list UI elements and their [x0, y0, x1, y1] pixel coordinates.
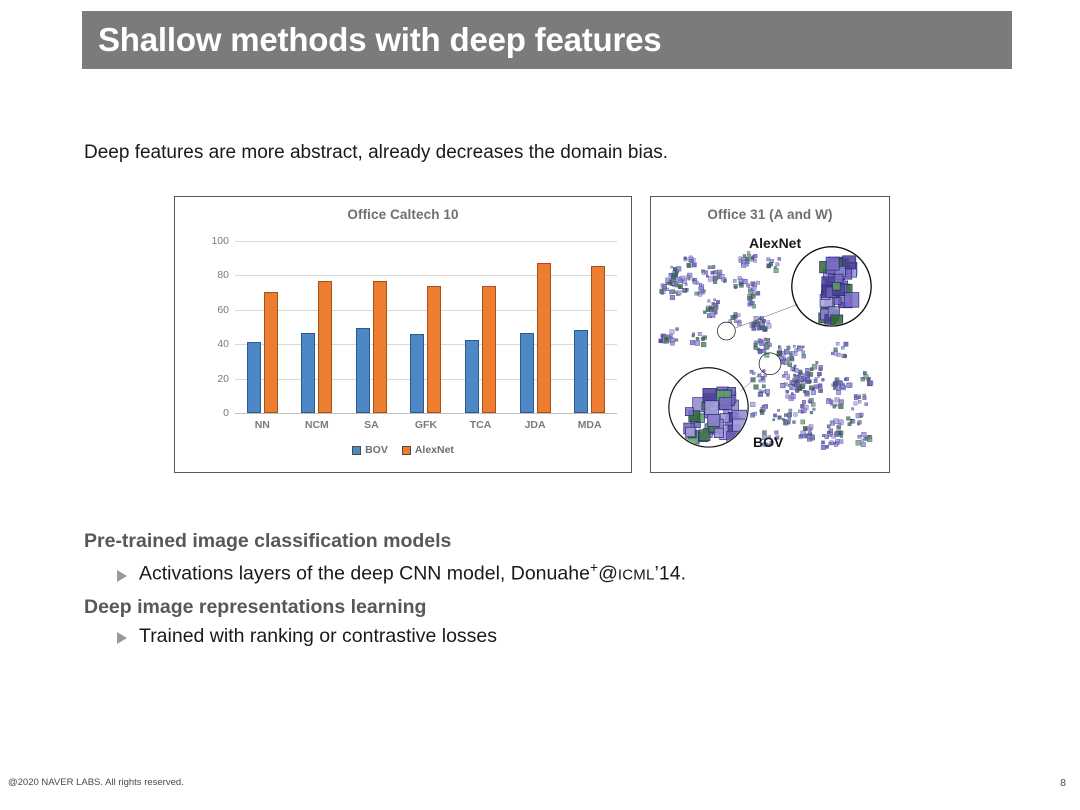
bullet-prefix: Activations layers of the deep CNN model…	[139, 563, 590, 585]
tsne-point	[734, 284, 738, 288]
tsne-inset-thumb	[705, 401, 719, 415]
tsne-point	[817, 372, 821, 376]
tsne-point	[741, 263, 746, 268]
tsne-point	[773, 414, 776, 417]
tsne-point	[713, 280, 717, 284]
chart-bar-alexnet-sa	[373, 281, 387, 413]
tsne-point	[868, 381, 873, 386]
tsne-point	[822, 434, 825, 437]
tsne-point	[787, 346, 790, 349]
tsne-point	[762, 379, 765, 382]
tsne-point	[661, 292, 663, 294]
tsne-inset-thumbnails	[819, 256, 859, 327]
tsne-panel: Office 31 (A and W) AlexNet BOV	[650, 196, 890, 473]
tsne-point	[756, 291, 760, 295]
tsne-point	[807, 435, 811, 439]
chart-bar-bov-sa	[356, 328, 370, 413]
tsne-point	[802, 351, 805, 354]
tsne-point	[839, 440, 843, 444]
tsne-point	[809, 425, 813, 429]
tsne-point	[811, 390, 816, 395]
tsne-point	[777, 351, 782, 356]
tsne-point	[805, 369, 808, 372]
tsne-point	[692, 263, 696, 267]
tsne-point	[754, 385, 759, 390]
tsne-point	[677, 277, 680, 280]
tsne-point	[692, 335, 694, 337]
tsne-point	[798, 347, 802, 351]
tsne-point	[858, 400, 861, 403]
tsne-point	[790, 388, 792, 390]
tsne-point	[844, 355, 847, 358]
tsne-inset-thumb	[714, 428, 723, 437]
tsne-point	[733, 279, 736, 282]
chart-bar-alexnet-jda	[537, 263, 551, 414]
tsne-point	[818, 389, 822, 393]
tsne-point	[685, 283, 687, 285]
tsne-point	[754, 259, 757, 262]
tsne-point	[786, 395, 789, 398]
tsne-point	[795, 349, 798, 352]
bullet-trained-losses-text: Trained with ranking or contrastive loss…	[139, 625, 497, 648]
chart-gridline	[235, 413, 617, 414]
tsne-point	[861, 442, 866, 447]
tsne-inset-thumb	[708, 414, 720, 426]
tsne-point	[836, 378, 839, 381]
tsne-point	[793, 345, 795, 347]
tsne-point	[787, 421, 790, 424]
tsne-point	[737, 321, 741, 325]
tsne-point	[834, 404, 837, 407]
page-title: Shallow methods with deep features	[82, 21, 661, 59]
tsne-point	[836, 390, 840, 394]
tsne-point	[659, 339, 663, 343]
tsne-point	[837, 353, 841, 357]
tsne-point	[752, 326, 756, 330]
tsne-point	[829, 442, 832, 445]
section-heading-pretrained: Pre-trained image classification models	[84, 530, 844, 553]
tsne-point	[844, 342, 848, 346]
tsne-point	[833, 387, 836, 390]
tsne-point	[708, 266, 711, 269]
tsne-point	[742, 260, 745, 263]
tsne-point	[759, 380, 762, 383]
tsne-point	[784, 421, 787, 424]
tsne-inset-thumbnails	[684, 387, 747, 445]
tsne-point	[671, 266, 673, 268]
chart-bar-group	[301, 241, 332, 413]
tsne-point	[767, 342, 770, 345]
tsne-inset-thumb	[703, 388, 717, 402]
footer-page-number: 8	[1060, 777, 1066, 789]
tsne-point	[686, 276, 689, 279]
tsne-point	[812, 388, 814, 390]
tsne-point	[858, 435, 861, 438]
tsne-inset-thumb	[686, 427, 695, 436]
tsne-point	[867, 437, 872, 442]
tsne-point	[703, 290, 705, 292]
chart-bar-group	[520, 241, 551, 413]
tsne-point	[846, 384, 850, 388]
tsne-point	[839, 400, 844, 405]
tsne-point	[754, 412, 757, 415]
chart-bar-bov-gfk	[410, 334, 424, 413]
tsne-point	[846, 417, 850, 421]
chart-bar-group	[574, 241, 605, 413]
tsne-point	[789, 409, 792, 412]
tsne-source-circle-alexnet	[717, 322, 735, 340]
tsne-point	[784, 414, 787, 417]
tsne-point	[854, 394, 857, 397]
tsne-point	[836, 342, 839, 345]
tsne-point	[841, 346, 844, 349]
tsne-point	[794, 352, 797, 355]
tsne-point	[687, 263, 690, 266]
tsne-point	[690, 340, 695, 345]
tsne-point	[826, 399, 831, 404]
tsne-point	[763, 390, 765, 392]
bullet-suffix: ’14.	[655, 563, 686, 585]
tsne-point	[782, 418, 784, 420]
tsne-point	[778, 416, 780, 418]
tsne-point	[822, 378, 825, 381]
tsne-point	[747, 296, 751, 300]
footer-copyright: @2020 NAVER LABS. All rights reserved.	[8, 777, 184, 788]
tsne-point	[838, 424, 841, 427]
body-content: Pre-trained image classification models …	[84, 530, 844, 658]
tsne-point	[795, 369, 799, 373]
tsne-point	[854, 402, 857, 405]
tsne-point	[747, 251, 750, 254]
tsne-point	[754, 346, 757, 349]
tsne-inset-thumb	[834, 274, 843, 283]
tsne-point	[675, 339, 678, 342]
bullet-trained-losses: Trained with ranking or contrastive loss…	[84, 625, 844, 648]
tsne-point	[739, 260, 742, 263]
tsne-point	[840, 384, 845, 389]
tsne-point	[709, 307, 713, 311]
tsne-point	[662, 284, 667, 289]
tsne-point	[670, 334, 673, 337]
tsne-point	[784, 349, 789, 354]
tsne-point	[751, 257, 753, 259]
tsne-point	[781, 384, 785, 388]
tsne-point	[701, 342, 706, 347]
chart-bar-bov-mda	[574, 330, 588, 413]
chart-y-tick-label: 0	[223, 407, 229, 419]
tsne-point	[828, 431, 830, 433]
tsne-point	[767, 258, 770, 261]
tsne-point	[676, 266, 681, 271]
legend-item-alexnet: AlexNet	[402, 444, 454, 456]
tsne-point	[801, 383, 805, 387]
tsne-point	[677, 291, 681, 295]
tsne-point	[734, 312, 737, 315]
tsne-point	[746, 284, 749, 287]
tsne-point	[803, 390, 806, 393]
legend-swatch-alexnet	[402, 446, 411, 455]
tsne-point	[695, 341, 700, 346]
chart-bars	[235, 241, 617, 413]
tsne-point	[760, 411, 764, 415]
tsne-point	[747, 254, 751, 258]
tsne-point	[708, 277, 713, 282]
tsne-point	[682, 288, 685, 291]
tsne-inset-thumb	[844, 293, 859, 308]
tsne-point	[816, 361, 818, 363]
tsne-inset-thumb	[685, 408, 693, 416]
tsne-point	[703, 311, 706, 314]
tsne-point	[810, 368, 813, 371]
tsne-point	[821, 445, 826, 450]
tsne-point	[713, 303, 717, 307]
chart-x-label-gfk: GFK	[403, 419, 449, 431]
chart-legend: BOV AlexNet	[175, 444, 631, 456]
tsne-point	[664, 339, 669, 344]
tsne-point	[808, 400, 811, 403]
tsne-point	[851, 408, 853, 410]
tsne-point	[678, 286, 681, 289]
chart-y-tick-label: 60	[217, 304, 229, 316]
tsne-point	[862, 432, 867, 437]
tsne-point	[759, 392, 762, 395]
tsne-point	[833, 382, 838, 387]
chart-bar-bov-ncm	[301, 333, 315, 413]
tsne-point	[865, 438, 868, 441]
tsne-inset-thumb	[720, 397, 732, 409]
tsne-point	[670, 341, 674, 345]
tsne-point	[852, 420, 855, 423]
tsne-point	[713, 276, 718, 281]
tsne-point	[769, 262, 773, 266]
tsne-point	[818, 384, 822, 388]
tsne-point	[717, 273, 720, 276]
lead-sentence: Deep features are more abstract, already…	[84, 142, 668, 164]
tsne-point	[750, 402, 755, 407]
tsne-point	[670, 330, 674, 334]
tsne-point	[764, 374, 767, 377]
chart-title: Office Caltech 10	[175, 197, 631, 222]
tsne-point	[776, 263, 779, 266]
chart-y-tick-label: 80	[217, 269, 229, 281]
legend-label-bov: BOV	[365, 444, 388, 456]
bullet-at-sign: @	[598, 563, 618, 585]
tsne-point	[714, 299, 716, 301]
tsne-point	[690, 259, 694, 263]
tsne-point	[813, 408, 816, 411]
tsne-point	[674, 267, 676, 269]
tsne-point	[712, 265, 715, 268]
bullet-activations-text: Activations layers of the deep CNN model…	[139, 559, 686, 586]
tsne-point	[864, 375, 868, 379]
tsne-point	[787, 414, 790, 417]
section-heading-deep-representations: Deep image representations learning	[84, 596, 844, 619]
tsne-point	[676, 328, 679, 331]
chart-bar-bov-nn	[247, 342, 261, 413]
tsne-point	[863, 396, 866, 399]
tsne-inset-thumb	[834, 297, 841, 304]
tsne-point	[806, 372, 810, 376]
tsne-point	[827, 425, 830, 428]
chart-x-label-ncm: NCM	[294, 419, 340, 431]
legend-label-alexnet: AlexNet	[415, 444, 454, 456]
tsne-point	[801, 420, 805, 424]
tsne-point	[788, 418, 791, 421]
tsne-point	[784, 371, 787, 374]
tsne-point	[819, 365, 823, 369]
tsne-point	[759, 390, 761, 392]
chart-x-label-mda: MDA	[567, 419, 613, 431]
tsne-point	[787, 375, 790, 378]
tsne-point	[793, 421, 796, 424]
tsne-point	[743, 254, 746, 257]
tsne-point	[788, 363, 792, 367]
tsne-point	[834, 348, 838, 352]
tsne-point	[670, 295, 675, 300]
chart-x-axis-labels: NNNCMSAGFKTCAJDAMDA	[235, 419, 617, 431]
chart-bar-alexnet-mda	[591, 266, 605, 413]
chart-bar-alexnet-tca	[482, 286, 496, 413]
triangle-bullet-icon	[117, 570, 127, 582]
chart-x-label-tca: TCA	[458, 419, 504, 431]
tsne-point	[826, 445, 829, 448]
tsne-point	[807, 380, 810, 383]
tsne-point	[844, 378, 847, 381]
tsne-point	[754, 284, 757, 287]
tsne-point	[671, 290, 675, 294]
tsne-point	[858, 396, 861, 399]
chart-bar-alexnet-gfk	[427, 286, 441, 413]
tsne-point	[661, 335, 663, 337]
tsne-point	[794, 413, 797, 416]
tsne-point	[794, 365, 796, 367]
tsne-point	[789, 357, 791, 359]
tsne-point	[738, 276, 741, 279]
tsne-point	[860, 413, 863, 416]
tsne-point	[821, 441, 824, 444]
tsne-point	[786, 390, 789, 393]
tsne-point	[695, 292, 698, 295]
tsne-point	[734, 320, 737, 323]
tsne-point	[791, 394, 796, 399]
tsne-point	[696, 337, 699, 340]
tsne-point	[748, 303, 752, 307]
chart-bar-group	[356, 241, 387, 413]
tsne-point	[856, 413, 861, 418]
tsne-inset-thumb	[826, 257, 839, 270]
tsne-point	[774, 268, 779, 273]
tsne-point	[767, 321, 770, 324]
tsne-point	[865, 403, 868, 406]
tsne-point	[760, 327, 763, 330]
tsne-point	[791, 367, 794, 370]
bullet-activations: Activations layers of the deep CNN model…	[84, 559, 844, 586]
tsne-point	[773, 419, 775, 421]
tsne-point	[815, 377, 817, 379]
tsne-point	[673, 271, 676, 274]
tsne-point	[739, 283, 743, 287]
bar-chart-panel: Office Caltech 10 020406080100 NNNCMSAGF…	[174, 196, 632, 473]
chart-y-tick-label: 40	[217, 338, 229, 350]
tsne-point	[762, 349, 766, 353]
tsne-point	[836, 439, 840, 443]
tsne-point	[684, 257, 687, 260]
tsne-point	[696, 282, 699, 285]
tsne-point	[857, 422, 860, 425]
chart-bar-bov-jda	[520, 333, 534, 413]
tsne-point	[808, 431, 811, 434]
tsne-point	[752, 322, 757, 327]
tsne-point	[737, 314, 740, 317]
tsne-point	[710, 312, 715, 317]
tsne-source-circle-bov	[759, 353, 781, 375]
tsne-point	[834, 419, 839, 424]
chart-x-label-jda: JDA	[512, 419, 558, 431]
tsne-point	[698, 332, 702, 336]
tsne-point	[802, 354, 806, 358]
tsne-point	[798, 410, 801, 413]
tsne-point	[791, 351, 794, 354]
tsne-point	[862, 439, 864, 441]
tsne-point	[666, 335, 669, 338]
tsne-point	[669, 274, 672, 277]
tsne-point	[699, 287, 704, 292]
tsne-point	[743, 280, 747, 284]
tsne-point	[838, 404, 843, 409]
tsne-point	[804, 378, 806, 380]
bullet-venue: ICML	[618, 567, 655, 584]
tsne-point	[793, 374, 795, 376]
tsne-point	[739, 257, 742, 260]
tsne-point	[720, 274, 724, 278]
tsne-point	[778, 346, 780, 348]
tsne-point	[835, 398, 839, 402]
tsne-point	[832, 434, 836, 438]
legend-swatch-bov	[352, 446, 361, 455]
tsne-point	[856, 440, 861, 445]
chart-plot-area: 020406080100	[235, 241, 617, 413]
tsne-point	[750, 370, 753, 373]
tsne-point	[762, 326, 765, 329]
tsne-point	[795, 379, 798, 382]
tsne-point	[754, 341, 757, 344]
triangle-bullet-icon	[117, 632, 127, 644]
tsne-point	[863, 371, 866, 374]
tsne-point	[752, 305, 756, 309]
tsne-point	[759, 341, 764, 346]
tsne-point	[703, 336, 707, 340]
tsne-point	[798, 374, 801, 377]
tsne-point	[805, 428, 807, 430]
tsne-point	[802, 408, 807, 413]
chart-bar-alexnet-ncm	[318, 281, 332, 413]
tsne-point	[762, 405, 764, 407]
tsne-point	[766, 338, 770, 342]
tsne-point	[675, 282, 677, 284]
tsne-point	[777, 409, 779, 411]
bullet-superscript: +	[590, 559, 598, 575]
tsne-point	[758, 350, 762, 354]
tsne-point	[802, 434, 806, 438]
chart-bar-group	[247, 241, 278, 413]
chart-bar-alexnet-nn	[264, 292, 278, 413]
tsne-label-alexnet: AlexNet	[749, 235, 801, 251]
chart-x-label-sa: SA	[348, 419, 394, 431]
chart-bar-bov-tca	[465, 340, 479, 413]
tsne-point	[762, 385, 765, 388]
tsne-point	[708, 300, 711, 303]
tsne-point	[698, 292, 702, 296]
